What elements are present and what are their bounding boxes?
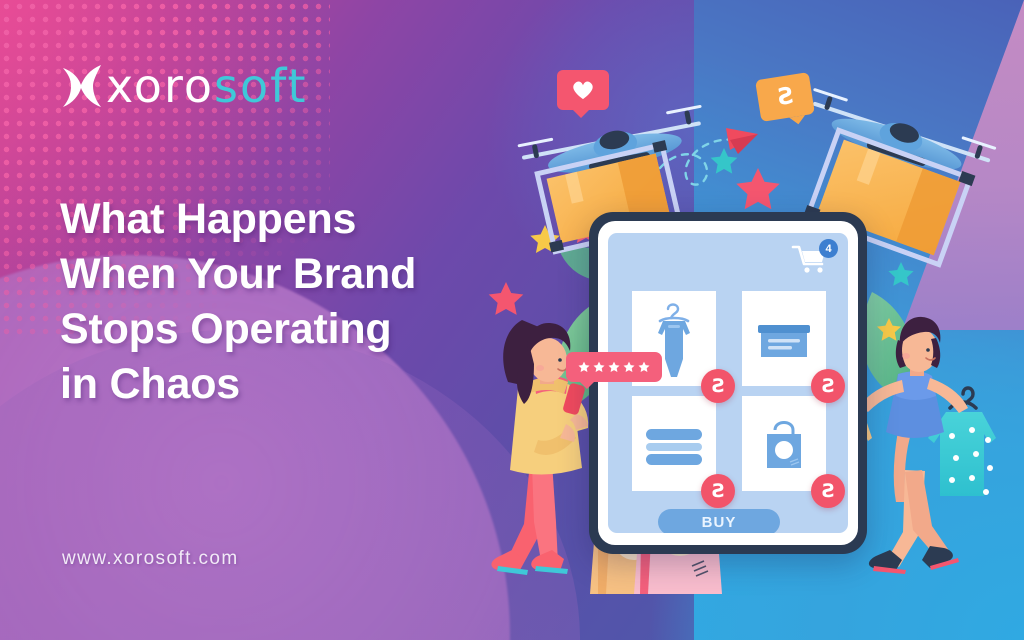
brand-logo[interactable]: xorosoft: [60, 62, 308, 110]
buy-button[interactable]: BUY: [658, 509, 780, 533]
star-icon: [578, 361, 590, 373]
heart-bubble: [557, 70, 609, 110]
star-red-large: [736, 168, 779, 209]
headline-line-3: Stops Operating: [60, 302, 500, 357]
price-tag-2[interactable]: S: [811, 369, 845, 403]
headline-line-4: in Chaos: [60, 357, 500, 412]
logo-wordmark: xorosoft: [106, 63, 308, 109]
promo-banner: 4: [0, 0, 1024, 640]
star-icon: [638, 361, 650, 373]
currency-symbol: S: [711, 482, 725, 501]
product-card-box[interactable]: [742, 291, 826, 386]
price-tag-1[interactable]: S: [701, 369, 735, 403]
shopping-cart-icon[interactable]: 4: [790, 243, 836, 277]
money-bubble: S: [755, 72, 815, 122]
currency-symbol: S: [711, 377, 725, 396]
logo-text-secondary: soft: [214, 59, 308, 113]
currency-symbol: S: [821, 377, 835, 396]
rating-bubble: [566, 352, 662, 382]
price-tag-4[interactable]: S: [811, 474, 845, 508]
headline-line-2: When Your Brand: [60, 247, 500, 302]
x-butterfly-icon: [60, 62, 104, 110]
product-card-bag[interactable]: [742, 396, 826, 491]
headline-line-1: What Happens: [60, 192, 500, 247]
tablet-screen: 4: [608, 233, 848, 533]
star-icon: [593, 361, 605, 373]
tablet-bezel: 4: [598, 221, 858, 545]
cart-count-badge: 4: [819, 239, 838, 258]
currency-symbol: S: [821, 482, 835, 501]
buy-button-label: BUY: [702, 514, 737, 531]
paper-plane-icon: [726, 128, 758, 154]
logo-text-primary: xoro: [106, 59, 214, 113]
currency-symbol: S: [775, 84, 795, 109]
product-card-folded-clothes[interactable]: [632, 396, 716, 491]
tablet-device: 4: [589, 212, 867, 554]
star-icon: [608, 361, 620, 373]
heart-icon: [571, 79, 595, 101]
price-tag-3[interactable]: S: [701, 474, 735, 508]
star-teal: [711, 148, 738, 174]
website-url[interactable]: www.xorosoft.com: [62, 548, 239, 570]
star-icon: [623, 361, 635, 373]
page-title: What Happens When Your Brand Stops Opera…: [60, 192, 500, 412]
star-cyan-right: [888, 262, 913, 286]
